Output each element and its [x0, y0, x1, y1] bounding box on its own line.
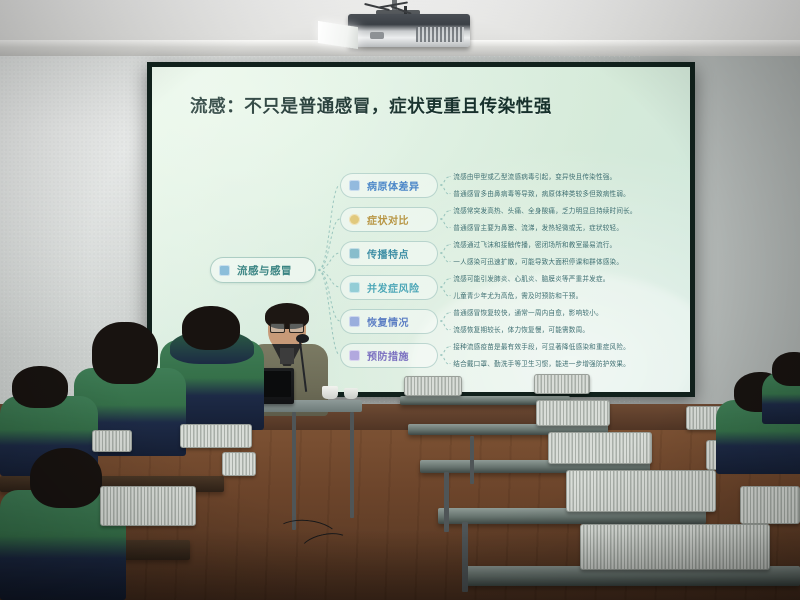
chair [548, 432, 652, 464]
desk-leg [462, 522, 468, 592]
branch-detail-line: ·一人感染可迅速扩散，可能导致大面积停课和群体感染。 [449, 258, 623, 266]
chair [534, 374, 590, 394]
detail-text: 流感由甲型或乙型流感病毒引起，变异快且传染性强。 [453, 173, 616, 181]
branch-label: 病原体差异 [367, 178, 420, 193]
branch-label: 传播特点 [367, 246, 409, 261]
mindmap-branch-symptoms[interactable]: 症状对比 [340, 207, 438, 232]
branch-detail-line: ·流感恢复期较长，体力恢复慢，可能需数周。 [449, 326, 589, 334]
desk-leg [470, 436, 474, 484]
presenter-shirt [280, 348, 294, 364]
ceiling-projector [348, 14, 470, 47]
projector-knob [370, 32, 384, 39]
chair [180, 424, 252, 448]
podium-leg [350, 412, 354, 518]
detail-text: 接种流感疫苗是最有效手段，可显著降低感染和重症风险。 [453, 343, 630, 351]
detail-text: 普通感冒恢复较快，通常一周内自愈，影响较小。 [453, 309, 602, 317]
chair [100, 486, 196, 526]
branch-detail-line: ·结合戴口罩、勤洗手等卫生习惯，能进一步增强防护效果。 [449, 360, 630, 368]
glasses-icon [270, 323, 304, 331]
branch-detail-line: ·普通感冒恢复较快，通常一周内自愈，影响较小。 [449, 309, 603, 317]
grid-icon [219, 265, 230, 276]
paper-cup [344, 388, 358, 399]
branch-label: 预防措施 [367, 348, 409, 363]
branch-label: 症状对比 [367, 212, 409, 227]
mindmap-root-label: 流感与感冒 [237, 263, 292, 278]
branch-label: 恢复情况 [367, 314, 409, 329]
detail-text: 流感常突发高热、头痛、全身酸痛，乏力明显且持续时间长。 [453, 207, 636, 215]
mindmap-branch-pathogen[interactable]: 病原体差异 [340, 173, 438, 198]
mindmap-branch-complications[interactable]: 并发症风险 [340, 275, 438, 300]
branch-detail-line: ·流感常突发高热、头痛、全身酸痛，乏力明显且持续时间长。 [449, 207, 637, 215]
chair [740, 486, 800, 524]
mindmap-branch-transmission[interactable]: 传播特点 [340, 241, 438, 266]
paper-cup [322, 386, 338, 399]
detail-text: 流感可能引发肺炎、心肌炎、脑膜炎等严重并发症。 [453, 275, 609, 283]
lung-icon [349, 282, 360, 293]
branch-detail-line: ·接种流感疫苗是最有效手段，可显著降低感染和重症风险。 [449, 343, 630, 351]
detail-text: 儿童青少年尤为高危，需及时预防和干预。 [453, 292, 582, 300]
classroom-scene: 流感：不只是普通感冒，症状更重且传染性强 [0, 0, 800, 600]
shield-icon [349, 350, 360, 361]
desk-leg [444, 472, 449, 532]
detail-text: 普通感冒主要为鼻塞、流涕，发热轻微或无，症状较轻。 [453, 224, 623, 232]
mindmap-branch-recovery[interactable]: 恢复情况 [340, 309, 438, 334]
chair [222, 452, 256, 476]
mindmap-branch-prevention[interactable]: 预防措施 [340, 343, 438, 368]
branch-detail-line: ·普通感冒主要为鼻塞、流涕，发热轻微或无，症状较轻。 [449, 224, 623, 232]
detail-text: 普通感冒多由鼻病毒等导致，病原体种类较多但致病性弱。 [453, 190, 630, 198]
detail-text: 流感通过飞沫和接触传播，密闭场所和教室最易流行。 [453, 241, 616, 249]
chair [566, 470, 716, 512]
branch-detail-line: ·流感通过飞沫和接触传播，密闭场所和教室最易流行。 [449, 241, 616, 249]
chair [536, 400, 610, 426]
chair [580, 524, 770, 570]
thermometer-icon [349, 214, 360, 225]
virus-icon [349, 180, 360, 191]
microphone-icon [296, 334, 309, 343]
branch-detail-line: ·流感由甲型或乙型流感病毒引起，变异快且传染性强。 [449, 173, 616, 181]
chair [404, 376, 462, 396]
branch-detail-line: ·流感可能引发肺炎、心肌炎、脑膜炎等严重并发症。 [449, 275, 610, 283]
projector-vent [416, 27, 464, 42]
calendar-icon [349, 316, 360, 327]
detail-text: 流感恢复期较长，体力恢复慢，可能需数周。 [453, 326, 589, 334]
detail-text: 一人感染可迅速扩散，可能导致大面积停课和群体感染。 [453, 258, 623, 266]
branch-detail-line: ·普通感冒多由鼻病毒等导致，病原体种类较多但致病性弱。 [449, 190, 630, 198]
detail-text: 结合戴口罩、勤洗手等卫生习惯，能进一步增强防护效果。 [453, 360, 630, 368]
branch-label: 并发症风险 [367, 280, 420, 295]
branch-detail-line: ·儿童青少年尤为高危，需及时预防和干预。 [449, 292, 582, 300]
spread-icon [349, 248, 360, 259]
podium-leg [292, 412, 296, 530]
mindmap-root-node[interactable]: 流感与感冒 [210, 257, 316, 283]
chair [92, 430, 132, 452]
